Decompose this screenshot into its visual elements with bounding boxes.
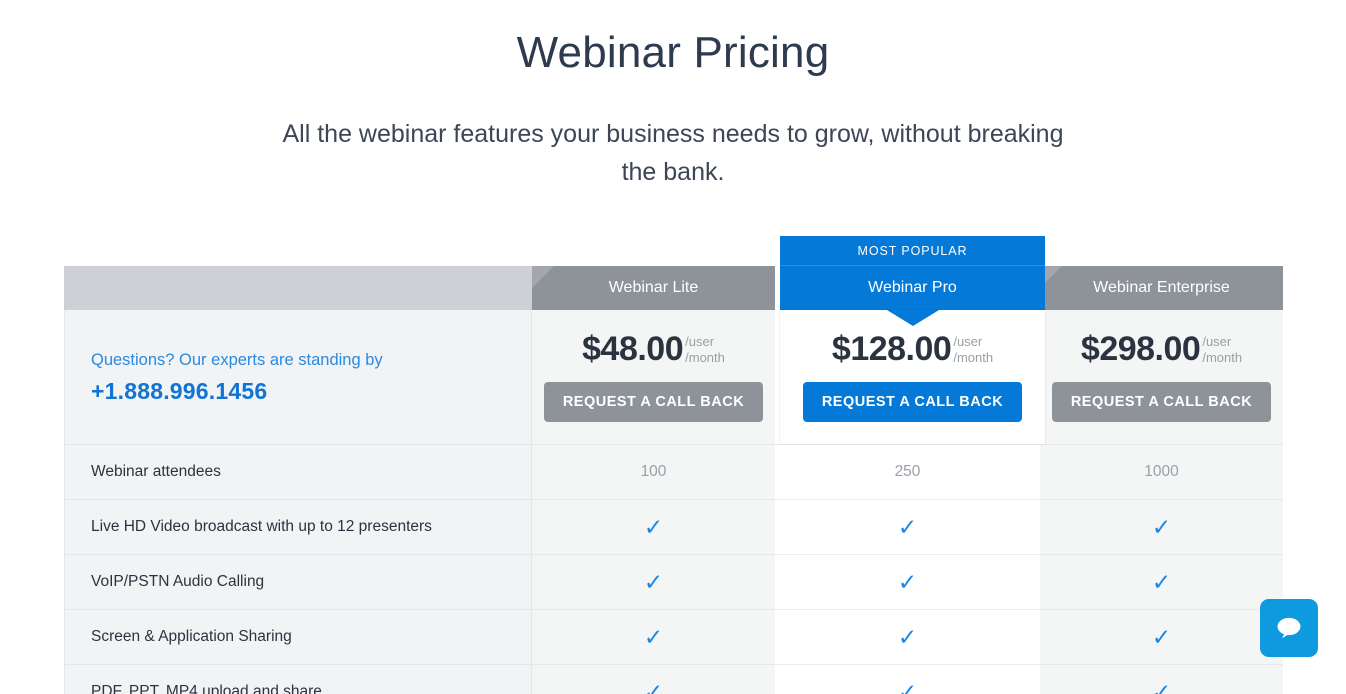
table-header-row: Webinar Lite Webinar Enterprise — [64, 266, 1283, 310]
chat-widget-button[interactable] — [1260, 599, 1318, 657]
page-heading: Webinar Pricing All the webinar features… — [0, 0, 1346, 191]
price-unit-month-enterprise: /month — [1202, 350, 1242, 365]
most-popular-badge: MOST POPULAR — [780, 236, 1045, 266]
feature-value-lite: ✓ — [532, 609, 775, 664]
corner-cut-decoration — [532, 266, 554, 288]
price-unit-user-lite: /user — [685, 334, 714, 349]
check-icon: ✓ — [644, 626, 663, 649]
check-icon: ✓ — [644, 571, 663, 594]
price-amount-enterprise: $298.00 — [1081, 332, 1200, 366]
feature-value-pro: 250 — [775, 444, 1040, 499]
price-unit-month-lite: /month — [685, 350, 725, 365]
check-icon: ✓ — [644, 681, 663, 694]
check-icon: ✓ — [1152, 626, 1171, 649]
check-icon: ✓ — [1152, 571, 1171, 594]
plan-name-pro: Webinar Pro — [780, 266, 1045, 310]
price-unit-month-pro: /month — [953, 350, 993, 365]
feature-value-enterprise: ✓ — [1040, 609, 1283, 664]
check-icon: ✓ — [644, 516, 663, 539]
header-blank-cell — [64, 266, 532, 310]
feature-label: Screen & Application Sharing — [64, 609, 532, 664]
price-line-pro: $128.00 /user /month — [832, 332, 993, 366]
contact-question-text: Questions? Our experts are standing by — [91, 349, 531, 372]
feature-value-lite: ✓ — [532, 554, 775, 609]
price-amount-lite: $48.00 — [582, 332, 683, 366]
contact-phone-link[interactable]: +1.888.996.1456 — [91, 378, 531, 405]
feature-value-enterprise: ✓ — [1040, 499, 1283, 554]
chat-bubble-icon — [1275, 615, 1303, 641]
table-row: VoIP/PSTN Audio Calling ✓ ✓ ✓ — [64, 554, 1283, 609]
feature-value-enterprise: 1000 — [1040, 444, 1283, 499]
feature-value-pro: ✓ — [775, 554, 1040, 609]
feature-label: PDF, PPT, MP4 upload and share — [64, 664, 532, 694]
check-icon: ✓ — [1152, 516, 1171, 539]
pricing-table: Webinar Lite Webinar Enterprise Question… — [64, 266, 1283, 694]
feature-label: VoIP/PSTN Audio Calling — [64, 554, 532, 609]
price-cell-enterprise: $298.00 /user /month REQUEST A CALL BACK — [1040, 310, 1283, 444]
feature-value-lite: 100 — [532, 444, 775, 499]
feature-label: Live HD Video broadcast with up to 12 pr… — [64, 499, 532, 554]
feature-label: Webinar attendees — [64, 444, 532, 499]
feature-value-pro: ✓ — [775, 499, 1040, 554]
price-cell-pro: $128.00 /user /month REQUEST A CALL BACK — [780, 310, 1045, 444]
pro-notch-decoration — [887, 310, 939, 326]
plan-header-lite: Webinar Lite — [532, 266, 775, 310]
feature-value-enterprise: ✓ — [1040, 664, 1283, 694]
price-amount-pro: $128.00 — [832, 332, 951, 366]
feature-value-enterprise: ✓ — [1040, 554, 1283, 609]
check-icon: ✓ — [898, 681, 917, 694]
plan-card-pro: MOST POPULAR Webinar Pro $128.00 /user /… — [780, 236, 1045, 444]
price-unit-user-enterprise: /user — [1202, 334, 1231, 349]
check-icon: ✓ — [898, 626, 917, 649]
table-row: PDF, PPT, MP4 upload and share ✓ ✓ ✓ — [64, 664, 1283, 694]
price-line-enterprise: $298.00 /user /month — [1081, 332, 1242, 366]
request-call-back-button-pro[interactable]: REQUEST A CALL BACK — [803, 382, 1022, 422]
feature-value-lite: ✓ — [532, 664, 775, 694]
price-unit-user-pro: /user — [953, 334, 982, 349]
price-line-lite: $48.00 /user /month — [582, 332, 725, 366]
request-call-back-button-enterprise[interactable]: REQUEST A CALL BACK — [1052, 382, 1271, 422]
plan-header-enterprise: Webinar Enterprise — [1040, 266, 1283, 310]
request-call-back-button-lite[interactable]: REQUEST A CALL BACK — [544, 382, 763, 422]
contact-info-panel: Questions? Our experts are standing by +… — [64, 310, 532, 444]
plan-name-lite: Webinar Lite — [609, 279, 699, 297]
check-icon: ✓ — [898, 516, 917, 539]
price-unit-lite: /user /month — [685, 332, 725, 366]
table-row: Live HD Video broadcast with up to 12 pr… — [64, 499, 1283, 554]
check-icon: ✓ — [898, 571, 917, 594]
price-unit-enterprise: /user /month — [1202, 332, 1242, 366]
check-icon: ✓ — [1152, 681, 1171, 694]
table-row: Webinar attendees 100 250 1000 — [64, 444, 1283, 499]
feature-value-pro: ✓ — [775, 609, 1040, 664]
page-title: Webinar Pricing — [0, 28, 1346, 79]
feature-value-lite: ✓ — [532, 499, 775, 554]
plan-name-enterprise: Webinar Enterprise — [1093, 279, 1230, 297]
price-cell-lite: $48.00 /user /month REQUEST A CALL BACK — [532, 310, 775, 444]
table-row: Screen & Application Sharing ✓ ✓ ✓ — [64, 609, 1283, 664]
feature-value-pro: ✓ — [775, 664, 1040, 694]
page-subtitle: All the webinar features your business n… — [278, 115, 1068, 191]
pricing-page: Webinar Pricing All the webinar features… — [0, 0, 1346, 694]
table-price-row: Questions? Our experts are standing by +… — [64, 310, 1283, 444]
price-unit-pro: /user /month — [953, 332, 993, 366]
